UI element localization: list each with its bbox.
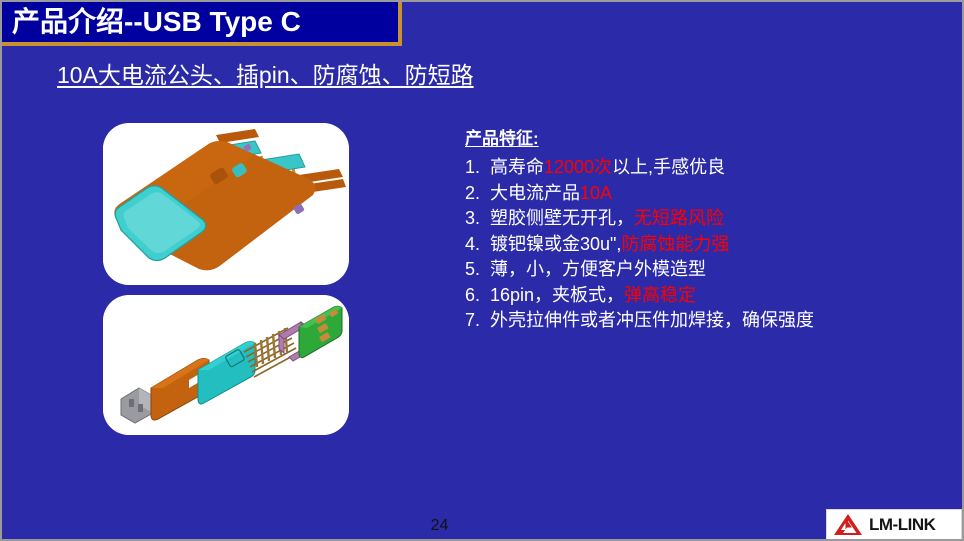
feature-text-run: 16pin，夹板式， [490, 285, 624, 305]
product-image-card-exploded [103, 295, 349, 435]
feature-number: 2. [465, 181, 480, 207]
feature-number: 3. [465, 206, 480, 232]
feature-text-run: 大电流产品 [490, 183, 580, 203]
feature-text-run: 无短路风险 [634, 208, 724, 228]
feature-item: 6.16pin，夹板式，弹高稳定 [465, 283, 935, 309]
feature-text-run: 弹高稳定 [624, 285, 696, 305]
usb-type-c-exploded-illustration [103, 295, 349, 435]
product-features-panel: 产品特征: 1.高寿命12000次以上,手感优良2.大电流产品10A3.塑胶侧壁… [465, 124, 935, 334]
feature-text-run: 10A [580, 183, 612, 203]
feature-text-run: 薄，小，方便客户外模造型 [490, 259, 706, 279]
slide-title-box: 产品介绍--USB Type C [2, 2, 402, 46]
lm-link-triangle-icon [833, 513, 863, 537]
feature-text-run: 防腐蚀能力强 [621, 234, 729, 254]
slide-subtitle: 10A大电流公头、插pin、防腐蚀、防短路 [57, 60, 517, 90]
features-list: 1.高寿命12000次以上,手感优良2.大电流产品10A3.塑胶侧壁无开孔，无短… [465, 155, 935, 334]
feature-item: 1.高寿命12000次以上,手感优良 [465, 155, 935, 181]
slide: 产品介绍--USB Type C 10A大电流公头、插pin、防腐蚀、防短路 [0, 0, 964, 541]
feature-text-run: 12000次 [544, 157, 612, 177]
feature-item: 2.大电流产品10A [465, 181, 935, 207]
features-heading: 产品特征: [465, 124, 539, 149]
feature-text-run: 以上,手感优良 [612, 157, 725, 177]
page-number: 24 [2, 517, 877, 535]
feature-number: 5. [465, 257, 480, 283]
feature-number: 6. [465, 283, 480, 309]
feature-text-run: 外壳拉伸件或者冲压件加焊接，确保强度 [490, 310, 814, 330]
feature-text-run: 塑胶侧壁无开孔， [490, 208, 634, 228]
feature-number: 4. [465, 232, 480, 258]
logo-text: LM-LINK [869, 515, 935, 535]
page-title: 产品介绍--USB Type C [2, 8, 301, 36]
product-image-card-assembled [103, 123, 349, 285]
company-logo: LM-LINK [826, 509, 962, 540]
feature-item: 4.镀钯镍或金30u",防腐蚀能力强 [465, 232, 935, 258]
feature-item: 7.外壳拉伸件或者冲压件加焊接，确保强度 [465, 308, 935, 334]
feature-number: 7. [465, 308, 480, 334]
usb-type-c-connector-illustration [103, 123, 349, 285]
feature-text-run: 镀钯镍或金30u", [490, 234, 621, 254]
feature-item: 3.塑胶侧壁无开孔，无短路风险 [465, 206, 935, 232]
feature-text-run: 高寿命 [490, 157, 544, 177]
feature-item: 5.薄，小，方便客户外模造型 [465, 257, 935, 283]
feature-number: 1. [465, 155, 480, 181]
